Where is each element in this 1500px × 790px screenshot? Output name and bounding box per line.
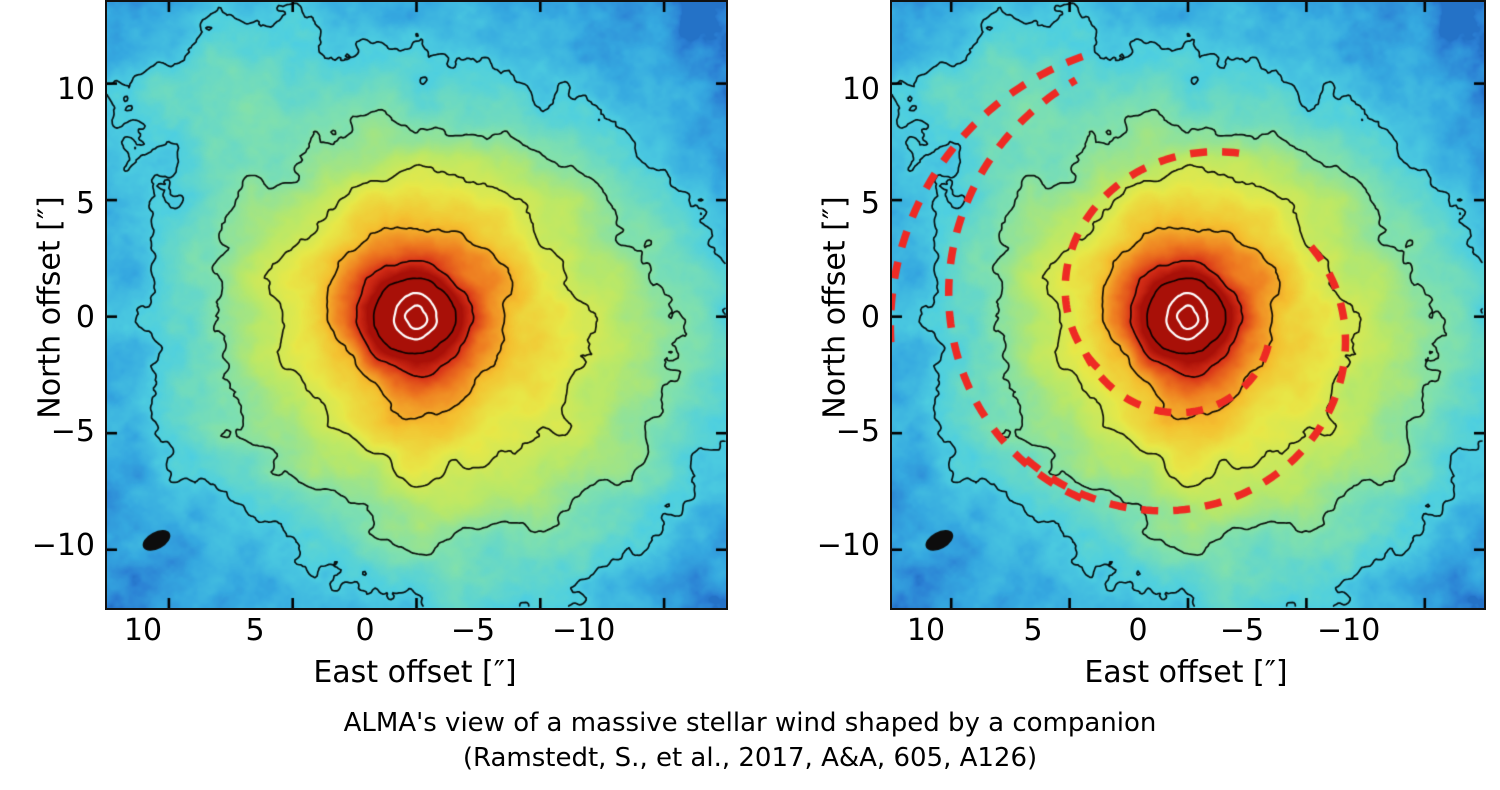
caption-line-2: (Ramstedt, S., et al., 2017, A&A, 605, A…	[0, 743, 1500, 775]
panel-a-ytick-5: 5	[20, 186, 95, 221]
figure-root: North offset [″] 10 5 0 −5 −10 10 5 0 −5…	[0, 0, 1500, 790]
panel-a-xlabel: East offset [″]	[255, 655, 575, 690]
panel-a-ytick-m10: −10	[20, 528, 95, 563]
panel-b-ytick-m10: −10	[805, 528, 880, 563]
panel-b-xtick-0: 0	[1108, 613, 1168, 648]
panel-b-ytick-m5: −5	[805, 414, 880, 449]
panel-a-xtick-5: 5	[225, 613, 285, 648]
panel-b-xtick-m5: −5	[1212, 613, 1272, 648]
panel-a-canvas	[107, 2, 726, 608]
panel-a-ytick-0: 0	[20, 300, 95, 335]
panel-a-xtick-10: 10	[113, 613, 173, 648]
panel-a-xtick-0: 0	[335, 613, 395, 648]
panel-b-xtick-10: 10	[896, 613, 956, 648]
caption-line-1: ALMA's view of a massive stellar wind sh…	[0, 708, 1500, 740]
panel-b-ytick-10: 10	[805, 72, 880, 107]
panel-b-ytick-0: 0	[805, 300, 880, 335]
panel-a-image	[105, 0, 728, 610]
panel-b-xtick-m10: −10	[1317, 613, 1377, 648]
panel-a-xtick-m5: −5	[443, 613, 503, 648]
panel-b-xlabel: East offset [″]	[1026, 655, 1346, 690]
panel-b-xtick-5: 5	[1003, 613, 1063, 648]
panel-b-image	[890, 0, 1486, 610]
panel-a-ytick-10: 10	[20, 72, 95, 107]
panel-a-xtick-m10: −10	[552, 613, 612, 648]
panel-b-canvas	[892, 2, 1484, 608]
panel-a-ytick-m5: −5	[20, 414, 95, 449]
panel-b-ytick-5: 5	[805, 186, 880, 221]
